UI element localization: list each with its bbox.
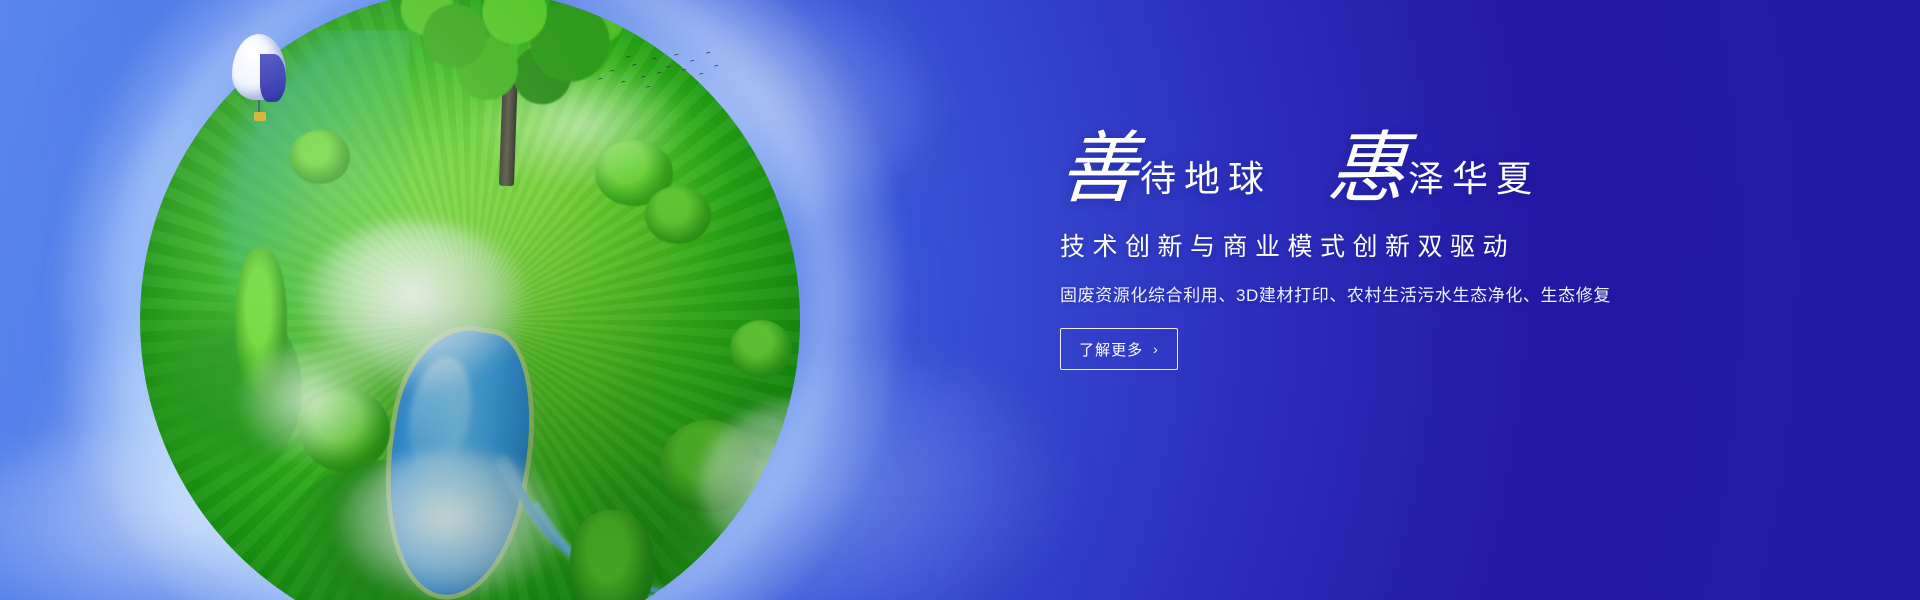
hero-content: 善 待地球 惠 泽华夏 技术创新与商业模式创新双驱动 固废资源化综合利用、3D建…	[1060, 132, 1820, 370]
headline-text-daidiqiu: 待地球	[1140, 161, 1272, 205]
balloon-basket	[254, 112, 266, 121]
tree-icon	[290, 130, 350, 184]
tree-canopy	[395, 0, 625, 126]
tree-icon	[235, 248, 287, 396]
headline-text-zehuaxia: 泽华夏	[1408, 161, 1540, 205]
birds-flock-icon	[594, 48, 734, 100]
cloud-shape	[300, 220, 530, 390]
tree-icon	[280, 460, 490, 600]
balloon-stripe	[260, 54, 286, 102]
headline-char-hui: 惠	[1325, 132, 1408, 205]
tree-icon	[395, 0, 625, 186]
tree-icon	[140, 290, 302, 490]
learn-more-button[interactable]: 了解更多 ›	[1060, 328, 1178, 370]
hero-subtitle: 技术创新与商业模式创新双驱动	[1060, 227, 1820, 263]
lake-shape	[368, 320, 547, 600]
page-title: 善 待地球 惠 泽华夏	[1060, 132, 1820, 205]
tree-icon	[570, 510, 654, 600]
river-shape	[532, 372, 800, 600]
tree-trunk	[499, 68, 518, 186]
tree-icon	[300, 388, 390, 472]
tree-icon	[730, 320, 792, 378]
tree-icon	[660, 420, 756, 512]
tree-icon	[595, 140, 673, 206]
cloud-shape	[335, 450, 565, 600]
tree-icon	[645, 186, 711, 244]
headline-char-shan: 善	[1057, 132, 1140, 205]
lake-reflection	[400, 352, 480, 481]
chevron-right-icon: ›	[1153, 342, 1159, 356]
learn-more-label: 了解更多	[1079, 339, 1143, 360]
hero-description: 固废资源化综合利用、3D建材打印、农村生活污水生态净化、生态修复	[1060, 281, 1820, 306]
hot-air-balloon-icon	[232, 34, 286, 126]
hero-banner: 善 待地球 惠 泽华夏 技术创新与商业模式创新双驱动 固废资源化综合利用、3D建…	[0, 0, 1920, 600]
cloud-shape	[235, 345, 385, 465]
